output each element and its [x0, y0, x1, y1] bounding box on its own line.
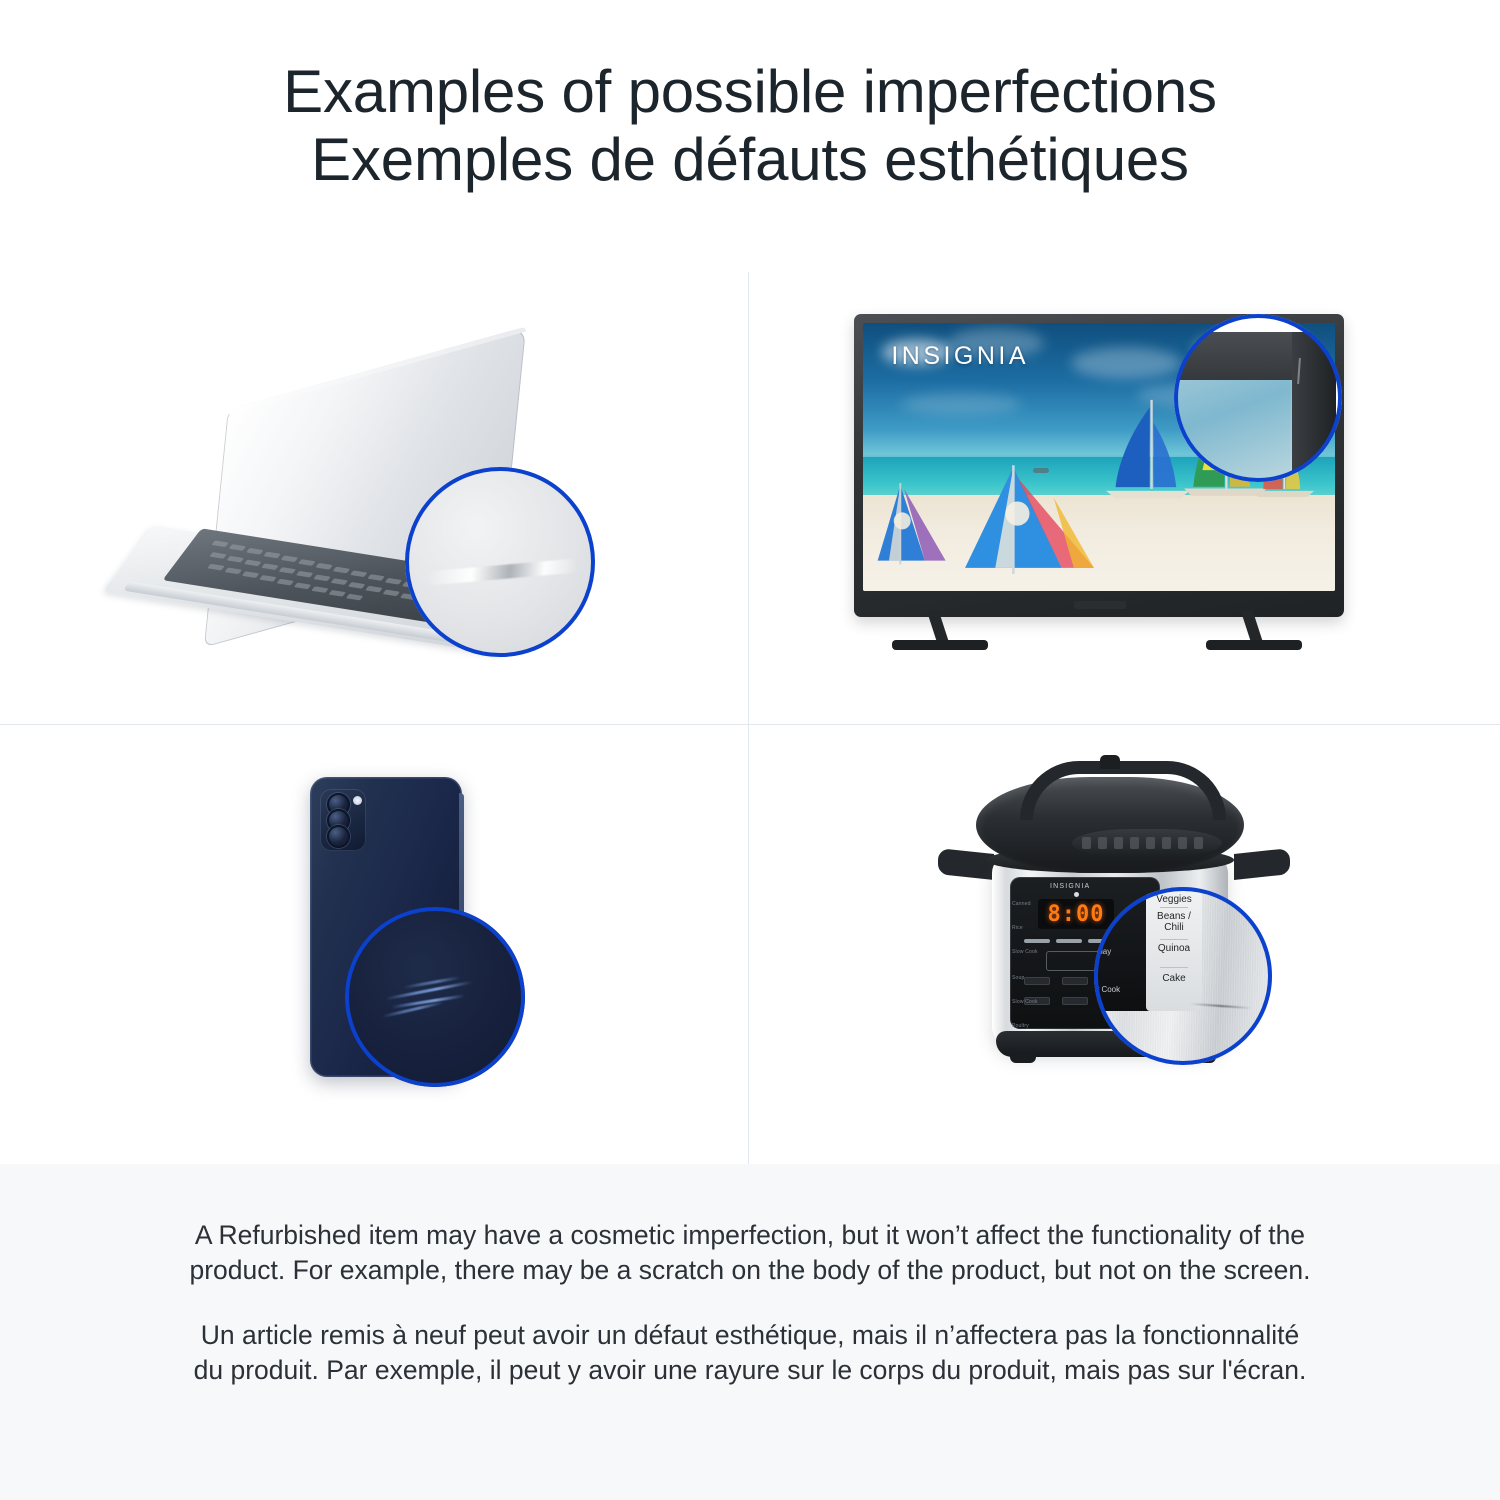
- product-examples-grid: INSIGNIA: [0, 272, 1500, 1164]
- panel-television: INSIGNIA: [749, 272, 1500, 725]
- cooker-button-less[interactable]: [1062, 977, 1088, 985]
- laptop-scratch-defect: [427, 558, 578, 585]
- disclaimer-english: A Refurbished item may have a cosmetic i…: [188, 1164, 1313, 1288]
- phone-magnifier-bubble: [345, 907, 525, 1087]
- title-english: Examples of possible imperfections: [0, 58, 1500, 126]
- page-title: Examples of possible imperfections Exemp…: [0, 58, 1500, 194]
- smartphone-illustration: [0, 725, 748, 1164]
- title-french: Exemples de défauts esthétiques: [0, 126, 1500, 194]
- cooker-left-label: Rice: [1012, 925, 1023, 931]
- panel-smartphone: [0, 725, 749, 1164]
- tv-magnified-bezel-right: [1292, 332, 1336, 472]
- laptop-illustration: [0, 272, 748, 724]
- cooker-steam-valve-icon: [1100, 755, 1120, 769]
- phone-flash-icon: [353, 796, 362, 805]
- tv-beach-tent-center: [957, 462, 1108, 585]
- cooker-magnified-label: Beans / Chili: [1150, 911, 1198, 933]
- phone-camera-lens-icon: [327, 825, 350, 848]
- television-illustration: INSIGNIA: [749, 272, 1500, 724]
- cooker-side-handle-right: [1234, 848, 1290, 880]
- refurbished-imperfections-infographic: Examples of possible imperfections Exemp…: [0, 0, 1500, 1500]
- phone-camera-module: [320, 789, 366, 851]
- tv-magnified-screen: [1174, 376, 1294, 482]
- panel-laptop: [0, 272, 749, 725]
- tv-stand-left: [892, 610, 988, 656]
- pressure-cooker-illustration: INSIGNIA 8:00: [749, 725, 1500, 1164]
- cooker-magnified-label: Steam Veggies: [1150, 887, 1198, 905]
- cooker-left-label: Canned: [1012, 901, 1031, 907]
- cooker-magnified-button-strip: Steam Veggies Beans / Chili Quinoa Cake: [1146, 887, 1202, 1011]
- tv-screen-brand-label: INSIGNIA: [891, 342, 1029, 371]
- cooker-left-label-column: Canned Rice Slow Cook Soup Slow Cook Pou…: [1012, 897, 1028, 1047]
- tv-magnifier-bubble: [1174, 314, 1342, 482]
- cooker-magnified-dark-label: Delay: [1094, 947, 1124, 956]
- cooker-magnified-label: Quinoa: [1150, 943, 1198, 954]
- disclaimer-french: Un article remis à neuf peut avoir un dé…: [188, 1288, 1313, 1388]
- laptop-magnifier-bubble: [405, 467, 595, 657]
- panel-pressure-cooker: INSIGNIA 8:00: [749, 725, 1500, 1164]
- cooker-lid-vents: [1072, 829, 1222, 857]
- cooker-side-handle-left: [938, 848, 994, 880]
- tv-stand-right: [1206, 610, 1302, 656]
- cooker-lid-handle[interactable]: [1020, 761, 1226, 820]
- cooker-magnified-dark-label: Slow Cook: [1094, 985, 1124, 994]
- cooker-magnified-label: Cake: [1150, 973, 1198, 984]
- cooker-indicator-led: [1074, 892, 1079, 897]
- cooker-foot: [1010, 1053, 1036, 1063]
- cooker-magnifier-bubble: Delay Slow Cook Steam Veggies Beans / Ch…: [1094, 887, 1272, 1065]
- tv-badge: [1074, 601, 1126, 609]
- disclaimer-section: A Refurbished item may have a cosmetic i…: [0, 1164, 1500, 1500]
- cooker-left-label: Slow Cook: [1012, 999, 1038, 1005]
- cooker-left-label: Poultry: [1012, 1023, 1029, 1029]
- cooker-left-label: Slow Cook: [1012, 949, 1038, 955]
- cooker-button-slowcook[interactable]: [1062, 997, 1088, 1005]
- cooker-brand-label: INSIGNIA: [1050, 883, 1090, 890]
- cooker-left-label: Soup: [1012, 975, 1024, 981]
